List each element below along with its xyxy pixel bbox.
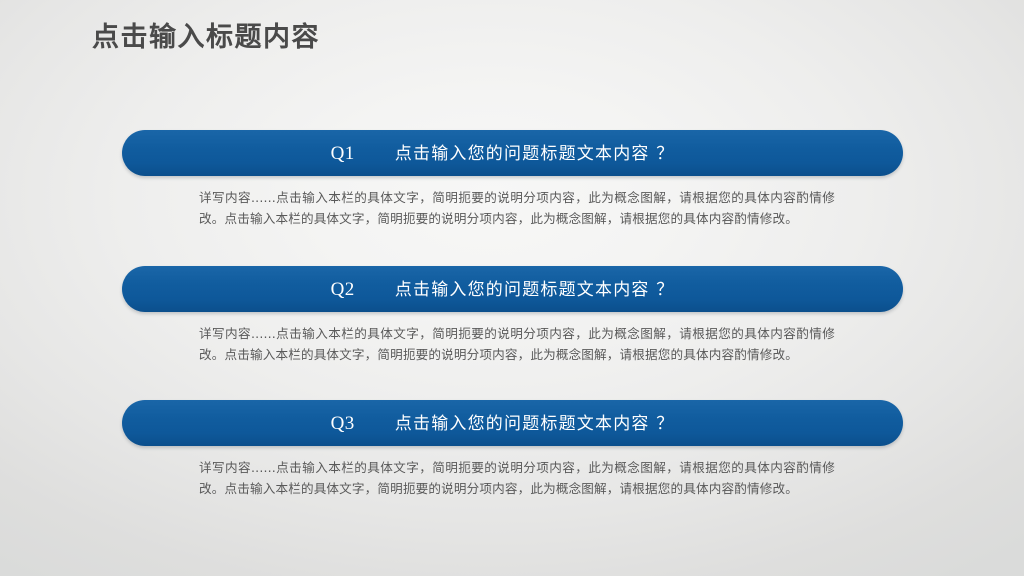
presentation-slide: 点击输入标题内容 Q1 点击输入您的问题标题文本内容 ？ 详写内容......点… (0, 0, 1024, 576)
question-bar-content: Q2 点击输入您的问题标题文本内容 ？ (331, 280, 675, 299)
question-tag: Q2 (331, 280, 355, 299)
question-heading: 点击输入您的问题标题文本内容 ？ (395, 282, 675, 299)
question-heading: 点击输入您的问题标题文本内容 ？ (395, 416, 675, 433)
question-tag: Q3 (331, 414, 355, 433)
question-block: Q3 点击输入您的问题标题文本内容 ？ 详写内容......点击输入本栏的具体文… (0, 400, 1024, 499)
question-bar-q1[interactable]: Q1 点击输入您的问题标题文本内容 ？ (122, 130, 903, 176)
question-block: Q1 点击输入您的问题标题文本内容 ？ 详写内容......点击输入本栏的具体文… (0, 130, 1024, 229)
question-bar-q3[interactable]: Q3 点击输入您的问题标题文本内容 ？ (122, 400, 903, 446)
page-title: 点击输入标题内容 (92, 22, 320, 54)
question-bar-q2[interactable]: Q2 点击输入您的问题标题文本内容 ？ (122, 266, 903, 312)
question-bar-content: Q3 点击输入您的问题标题文本内容 ？ (331, 414, 675, 433)
question-body-text: 详写内容......点击输入本栏的具体文字，简明扼要的说明分项内容，此为概念图解… (199, 458, 835, 499)
question-bar-content: Q1 点击输入您的问题标题文本内容 ？ (331, 144, 675, 163)
question-tag: Q1 (331, 144, 355, 163)
question-heading: 点击输入您的问题标题文本内容 ？ (395, 146, 675, 163)
question-body-text: 详写内容......点击输入本栏的具体文字，简明扼要的说明分项内容，此为概念图解… (199, 324, 835, 365)
question-block: Q2 点击输入您的问题标题文本内容 ？ 详写内容......点击输入本栏的具体文… (0, 266, 1024, 365)
question-body-text: 详写内容......点击输入本栏的具体文字，简明扼要的说明分项内容，此为概念图解… (199, 188, 835, 229)
